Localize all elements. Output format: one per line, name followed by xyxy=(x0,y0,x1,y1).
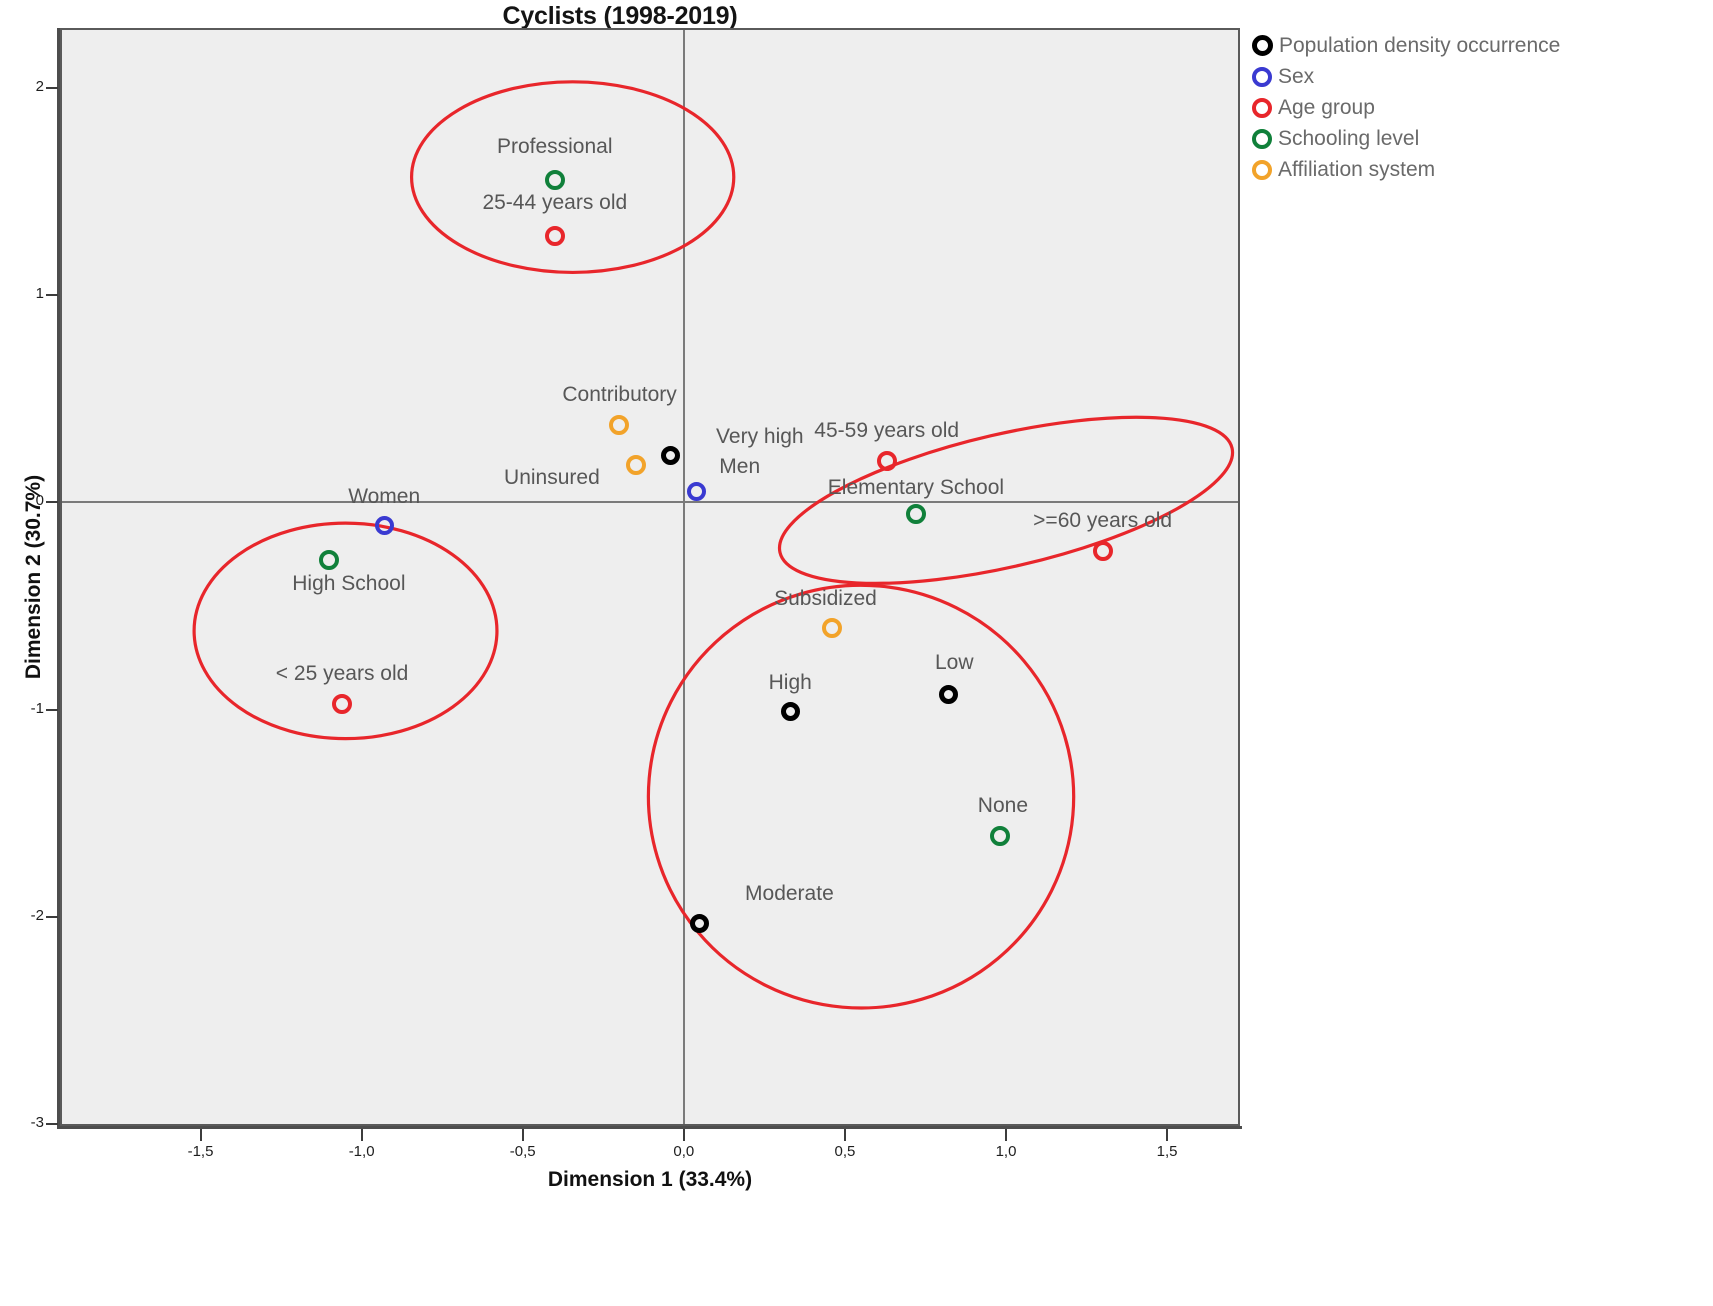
point-label: Low xyxy=(935,651,974,675)
data-point-low[interactable] xyxy=(939,685,958,704)
vertical-reference-line xyxy=(683,30,685,1124)
legend-marker-blue-icon xyxy=(1252,67,1272,87)
point-label: High xyxy=(769,671,812,695)
legend-item-red[interactable]: Age group xyxy=(1252,92,1712,123)
legend-label: Population density occurrence xyxy=(1279,34,1560,58)
data-point-women[interactable] xyxy=(375,516,394,535)
data-point-professional[interactable] xyxy=(545,170,565,190)
point-label: None xyxy=(978,794,1028,818)
x-axis-title: Dimension 1 (33.4%) xyxy=(60,1168,1240,1192)
legend-item-black[interactable]: Population density occurrence xyxy=(1252,30,1712,61)
point-label: Moderate xyxy=(745,882,834,906)
x-tick-label: -1,5 xyxy=(171,1143,231,1160)
data-point-high-school[interactable] xyxy=(319,550,339,570)
plot-area: Professional25-44 years oldContributoryV… xyxy=(60,28,1240,1126)
cluster-professional-2544 xyxy=(412,82,734,273)
point-label: High School xyxy=(292,572,405,596)
point-label: Elementary School xyxy=(828,476,1004,500)
y-tick xyxy=(46,916,58,918)
y-tick xyxy=(46,294,58,296)
legend-marker-black-icon xyxy=(1252,35,1273,56)
y-tick xyxy=(46,87,58,89)
cluster-ellipse-layer xyxy=(62,30,1238,1124)
x-tick-label: 0,0 xyxy=(654,1143,714,1160)
x-tick-label: 1,5 xyxy=(1137,1143,1197,1160)
legend-item-blue[interactable]: Sex xyxy=(1252,61,1712,92)
legend-label: Affiliation system xyxy=(1278,158,1435,182)
x-tick xyxy=(1005,1129,1007,1141)
x-tick-label: -1,0 xyxy=(332,1143,392,1160)
data-point-men[interactable] xyxy=(687,482,706,501)
chart-title: Cyclists (1998-2019) xyxy=(0,2,1240,31)
y-tick xyxy=(46,709,58,711)
legend-marker-orange-icon xyxy=(1252,160,1272,180)
point-label: Uninsured xyxy=(504,466,600,490)
x-axis-spine xyxy=(57,1126,1242,1129)
y-tick-label: 2 xyxy=(0,78,44,95)
plot-inner: Professional25-44 years oldContributoryV… xyxy=(62,30,1238,1124)
y-axis-title: Dimension 2 (30.7%) xyxy=(22,347,46,807)
legend-item-orange[interactable]: Affiliation system xyxy=(1252,154,1712,185)
point-label: >=60 years old xyxy=(1033,509,1172,533)
y-axis-spine xyxy=(57,28,60,1128)
horizontal-reference-line xyxy=(62,501,1238,503)
point-label: 45-59 years old xyxy=(814,419,959,443)
x-tick-label: 1,0 xyxy=(976,1143,1036,1160)
data-point-moderate[interactable] xyxy=(690,914,709,933)
point-label: Very high xyxy=(716,425,804,449)
point-label: Women xyxy=(348,485,420,509)
point-label: Professional xyxy=(497,135,613,159)
y-tick xyxy=(46,501,58,503)
y-tick-label: 1 xyxy=(0,285,44,302)
y-tick-label: -2 xyxy=(0,907,44,924)
legend-label: Schooling level xyxy=(1278,127,1419,151)
legend-marker-red-icon xyxy=(1252,98,1272,118)
x-tick xyxy=(683,1129,685,1141)
x-tick-label: 0,5 xyxy=(815,1143,875,1160)
data-point-contributory[interactable] xyxy=(609,415,629,435)
data-point-uninsured[interactable] xyxy=(626,455,646,475)
data-point-high[interactable] xyxy=(781,702,800,721)
x-tick xyxy=(522,1129,524,1141)
data-point-very-high[interactable] xyxy=(661,446,680,465)
chart-root: Cyclists (1998-2019) Professional25-44 y… xyxy=(0,0,1713,1306)
point-label: Men xyxy=(719,455,760,479)
data-point-25-44-years-old[interactable] xyxy=(545,226,565,246)
x-tick-label: -0,5 xyxy=(493,1143,553,1160)
legend-label: Age group xyxy=(1278,96,1375,120)
data-point-45-59-years-old[interactable] xyxy=(877,451,897,471)
legend: Population density occurrenceSexAge grou… xyxy=(1252,30,1712,185)
point-label: Contributory xyxy=(562,383,676,407)
point-label: < 25 years old xyxy=(276,662,409,686)
data-point-subsidized[interactable] xyxy=(822,618,842,638)
x-tick xyxy=(844,1129,846,1141)
point-label: Subsidized xyxy=(774,587,877,611)
y-tick xyxy=(46,1123,58,1125)
data-point-60-years-old[interactable] xyxy=(1093,541,1113,561)
x-tick xyxy=(1166,1129,1168,1141)
point-label: 25-44 years old xyxy=(482,191,627,215)
x-tick xyxy=(361,1129,363,1141)
data-point-none[interactable] xyxy=(990,826,1010,846)
x-tick xyxy=(200,1129,202,1141)
data-point-25-years-old[interactable] xyxy=(332,694,352,714)
data-point-elementary-school[interactable] xyxy=(906,504,926,524)
legend-marker-green-icon xyxy=(1252,129,1272,149)
legend-label: Sex xyxy=(1278,65,1314,89)
legend-item-green[interactable]: Schooling level xyxy=(1252,123,1712,154)
y-tick-label: -3 xyxy=(0,1114,44,1131)
